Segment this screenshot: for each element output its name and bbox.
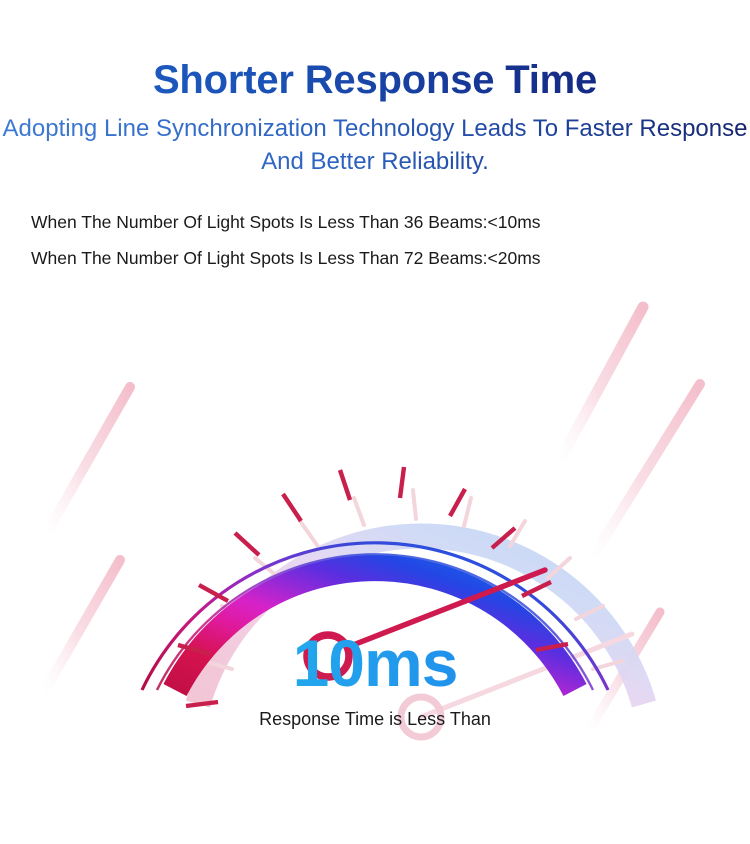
spec-line-72-beams: When The Number Of Light Spots Is Less T… [31,250,721,268]
speed-streak-icon [560,307,643,460]
spec-list: When The Number Of Light Spots Is Less T… [31,214,721,267]
gauge-ghost-layer [198,490,644,737]
gauge-tick [186,702,218,706]
speed-streak-icon [46,387,130,534]
gauge-needle-hub [307,635,349,677]
gauge-svg [0,282,750,782]
gauge-tick [283,494,301,521]
page-title: Shorter Response Time [0,0,750,103]
speed-streak-icon [44,560,120,692]
spec-line-36-beams: When The Number Of Light Spots Is Less T… [31,214,721,232]
gauge-main-arc [175,568,575,690]
gauge-tick [522,582,551,596]
header-block: Shorter Response Time Adopting Line Sync… [0,0,750,178]
gauge-tick [400,467,404,498]
gauge-illustration [0,282,750,782]
page-subtitle: Adopting Line Synchronization Technology… [0,103,750,178]
gauge-tick [450,489,465,516]
promo-page: Shorter Response Time Adopting Line Sync… [0,0,750,844]
gauge-tick [340,470,350,500]
gauge-tick [235,533,259,555]
speed-streak-icon [592,384,700,558]
